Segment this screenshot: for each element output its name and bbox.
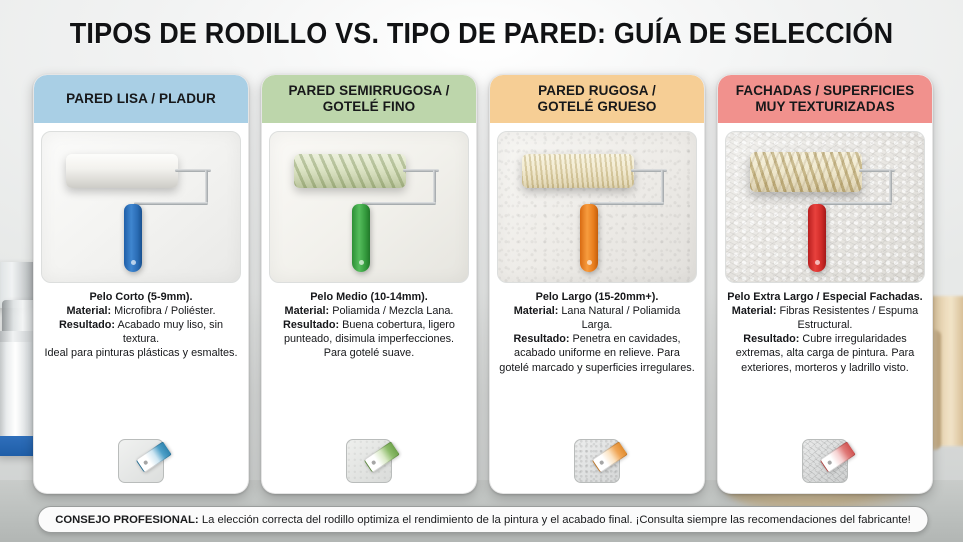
handle-hole-icon-4: [815, 260, 820, 265]
card-pared-rugosa[interactable]: PARED RUGOSA /GOTELÉ GRUESO: [489, 74, 705, 494]
page-title: TIPOS DE RODILLO VS. TIPO DE PARED: GUÍA…: [34, 18, 930, 51]
material-label-4: Material:: [732, 305, 777, 317]
roller-nap-2: [294, 154, 406, 188]
roller-photo-2: [269, 131, 469, 283]
handle-hole-icon-1: [131, 260, 136, 265]
swatch-wrap-3: [574, 439, 620, 487]
texture-swatch-icon-4: [802, 439, 848, 483]
roller-icon-extra-long-nap: [726, 132, 924, 282]
card-text-2: Pelo Medio (10-14mm). Material: Poliamid…: [270, 290, 468, 361]
infographic-canvas: TIPOS DE RODILLO VS. TIPO DE PARED: GUÍA…: [0, 0, 963, 542]
card-text-4: Pelo Extra Largo / Especial Fachadas. Ma…: [726, 290, 924, 375]
card-pared-lisa[interactable]: PARED LISA / PLADUR Pelo Corto (5-: [33, 74, 249, 494]
chip-hole-icon-1: [143, 460, 149, 466]
card-list: PARED LISA / PLADUR Pelo Corto (5-: [33, 74, 933, 494]
card-header-4: FACHADAS / SUPERFICIESMUY TEXTURIZADAS: [718, 75, 932, 123]
card-header-3: PARED RUGOSA /GOTELÉ GRUESO: [490, 75, 704, 123]
roller-frame-elbow-1: [205, 170, 208, 204]
chip-hole-icon-3: [599, 460, 605, 466]
nap-label-4: Pelo Extra Largo / Especial Fachadas.: [727, 291, 922, 303]
material-value-1: Microfibra / Poliéster.: [114, 305, 215, 317]
professional-tip-banner: CONSEJO PROFESIONAL: La elección correct…: [38, 506, 929, 533]
handle-hole-icon-3: [587, 260, 592, 265]
extra-text-2: Para gotelé suave.: [270, 346, 468, 360]
tip-label: CONSEJO PROFESIONAL:: [55, 514, 198, 526]
result-label-1: Resultado:: [59, 319, 115, 331]
roller-frame-shaft-4: [818, 202, 892, 205]
paint-chip-icon-1: [135, 441, 172, 473]
swatch-wrap-4: [802, 439, 848, 487]
paint-chip-icon-3: [591, 441, 628, 473]
roller-icon-medium-nap: [270, 132, 468, 282]
card-header-label-1: PARED LISA / PLADUR: [66, 91, 216, 107]
texture-swatch-icon-2: [346, 439, 392, 483]
tip-text: La elección correcta del rodillo optimiz…: [199, 514, 911, 526]
card-header-2: PARED SEMIRRUGOSA /GOTELÉ FINO: [262, 75, 476, 123]
roller-frame-shaft-2: [362, 202, 436, 205]
result-value-1: Acabado muy liso, sin textura.: [117, 319, 223, 345]
paint-chip-icon-4: [819, 441, 856, 473]
card-body-3: Pelo Largo (15-20mm+). Material: Lana Na…: [490, 123, 704, 493]
roller-frame-elbow-3: [661, 170, 664, 204]
material-value-3: Lana Natural / Poliamida Larga.: [561, 305, 680, 331]
paint-chip-icon-2: [363, 441, 400, 473]
roller-nap-1: [66, 154, 178, 188]
result-label-3: Resultado:: [513, 333, 569, 345]
chip-hole-icon-2: [371, 460, 377, 466]
material-value-2: Poliamida / Mezcla Lana.: [332, 305, 453, 317]
texture-swatch-icon-3: [574, 439, 620, 483]
roller-photo-4: [725, 131, 925, 283]
card-header-label-3: PARED RUGOSA /GOTELÉ GRUESO: [537, 83, 656, 115]
swatch-wrap-1: [118, 439, 164, 487]
card-pared-semirrugosa[interactable]: PARED SEMIRRUGOSA /GOTELÉ FINO: [261, 74, 477, 494]
material-label-1: Material:: [67, 305, 112, 317]
material-value-4: Fibras Resistentes / Espuma Estructural.: [779, 305, 918, 331]
nap-label-1: Pelo Corto (5-9mm).: [89, 291, 192, 303]
card-body-4: Pelo Extra Largo / Especial Fachadas. Ma…: [718, 123, 932, 493]
roller-handle-red: [808, 204, 826, 272]
roller-nap-4: [750, 152, 862, 192]
material-label-2: Material:: [285, 305, 330, 317]
material-label-3: Material:: [514, 305, 559, 317]
card-fachadas[interactable]: FACHADAS / SUPERFICIESMUY TEXTURIZADAS: [717, 74, 933, 494]
roller-frame-shaft-3: [590, 202, 664, 205]
roller-frame-shaft-1: [134, 202, 208, 205]
roller-handle-blue: [124, 204, 142, 272]
roller-photo-3: [497, 131, 697, 283]
result-label-4: Resultado:: [743, 333, 799, 345]
roller-icon-long-nap: [498, 132, 696, 282]
roller-frame-elbow-2: [433, 170, 436, 204]
roller-icon-short-nap: [42, 132, 240, 282]
roller-handle-orange: [580, 204, 598, 272]
nap-label-2: Pelo Medio (10-14mm).: [310, 291, 428, 303]
nap-label-3: Pelo Largo (15-20mm+).: [536, 291, 659, 303]
card-body-2: Pelo Medio (10-14mm). Material: Poliamid…: [262, 123, 476, 493]
roller-photo-1: [41, 131, 241, 283]
card-header-label-4: FACHADAS / SUPERFICIESMUY TEXTURIZADAS: [736, 83, 914, 115]
card-body-1: Pelo Corto (5-9mm). Material: Microfibra…: [34, 123, 248, 493]
handle-hole-icon-2: [359, 260, 364, 265]
chip-hole-icon-4: [827, 460, 833, 466]
extra-text-1: Ideal para pinturas plásticas y esmaltes…: [42, 346, 240, 360]
card-text-3: Pelo Largo (15-20mm+). Material: Lana Na…: [498, 290, 696, 375]
texture-swatch-icon-1: [118, 439, 164, 483]
card-header-1: PARED LISA / PLADUR: [34, 75, 248, 123]
result-label-2: Resultado:: [283, 319, 339, 331]
roller-handle-green: [352, 204, 370, 272]
card-text-1: Pelo Corto (5-9mm). Material: Microfibra…: [42, 290, 240, 361]
card-header-label-2: PARED SEMIRRUGOSA /GOTELÉ FINO: [289, 83, 450, 115]
roller-frame-elbow-4: [889, 170, 892, 204]
swatch-wrap-2: [346, 439, 392, 487]
roller-nap-3: [522, 154, 634, 188]
